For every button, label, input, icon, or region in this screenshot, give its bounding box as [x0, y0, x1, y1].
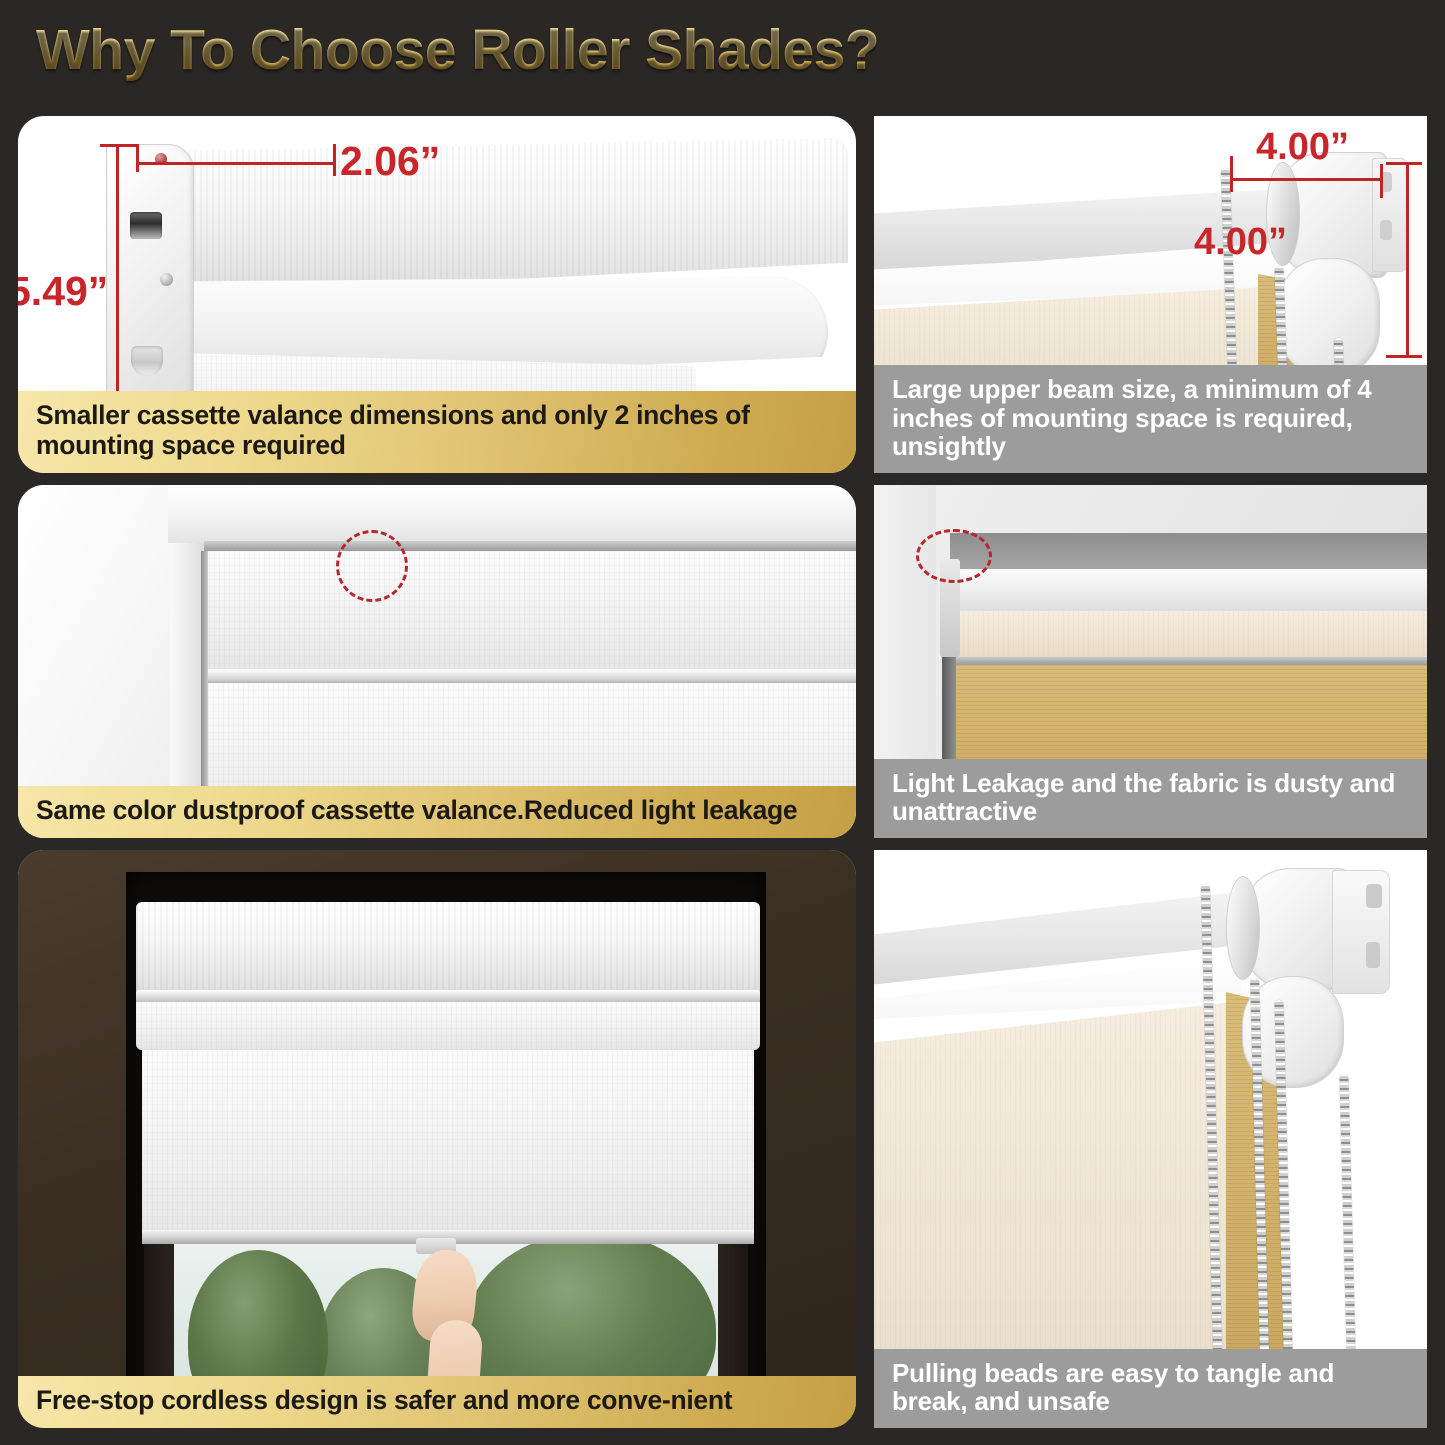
- cassette-skirt: [136, 1002, 760, 1050]
- panel-3-caption: Same color dustproof cassette valance.Re…: [18, 786, 856, 838]
- panel-smaller-cassette[interactable]: 2.06” 5.49” Smaller cassette valance dim…: [18, 116, 856, 473]
- beam-bottom-rail: [948, 657, 1427, 665]
- beam-height-tick-bottom: [1386, 355, 1422, 358]
- mount-plate-slot-a: [1366, 884, 1382, 908]
- panel-6-image: [874, 850, 1427, 1428]
- beam-width-tick-right: [1380, 164, 1383, 198]
- upper-beam-shadow: [950, 533, 1427, 571]
- panel-light-leakage[interactable]: Large gap Light Leakage and the fabric i…: [874, 485, 1427, 838]
- panel-5-caption: Free-stop cordless design is safer and m…: [18, 1376, 856, 1428]
- beam-height-dimension-label: 4.00”: [1194, 221, 1287, 264]
- window-frame-outer: [18, 485, 170, 838]
- beam-width-dimension-line: [1230, 178, 1382, 181]
- mount-plate-slot-b: [1366, 942, 1380, 968]
- beam-height-dimension-line: [1406, 162, 1409, 358]
- panel-cordless-design[interactable]: Free-stop cordless design is safer and m…: [18, 850, 856, 1428]
- beam-width-dimension-label: 4.00”: [1256, 126, 1349, 169]
- cassette-valance: [136, 902, 760, 998]
- comparison-grid: 2.06” 5.49” Smaller cassette valance dim…: [0, 100, 1445, 1445]
- panel-2-caption: Large upper beam size, a minimum of 4 in…: [874, 365, 1427, 473]
- panel-5-image: [18, 850, 856, 1428]
- height-dimension-label: 5.49”: [18, 268, 108, 315]
- panel-dustproof-valance[interactable]: smaller gap Same color dustproof cassett…: [18, 485, 856, 838]
- beam-bracket-lower: [1278, 258, 1380, 376]
- bracket-slot-b: [1380, 220, 1392, 240]
- shade-fabric-upper: [204, 551, 856, 671]
- beam-width-tick-left: [1230, 156, 1233, 192]
- page-title: Why To Choose Roller Shades?: [36, 17, 879, 83]
- panel-pulling-beads[interactable]: Pulling beads are easy to tangle and bre…: [874, 850, 1427, 1428]
- shade-midrail: [204, 669, 856, 683]
- shade-main-fabric: [142, 1050, 754, 1238]
- bracket-screw-middle: [160, 273, 173, 286]
- panel-3-image: smaller gap: [18, 485, 856, 838]
- highlight-circle-icon: [336, 530, 408, 602]
- width-dimension-tick-right: [333, 144, 336, 176]
- beam-height-tick-top: [1386, 162, 1422, 165]
- header-bar: Why To Choose Roller Shades?: [0, 0, 1445, 100]
- width-dimension-tick-left: [136, 144, 139, 172]
- highlight-circle-icon: [916, 529, 992, 583]
- beam-cream-band: [948, 611, 1427, 657]
- valance-headrail: [204, 541, 856, 551]
- upper-beam-face: [944, 569, 1427, 613]
- panel-large-beam[interactable]: 4.00” 4.00” Large upper beam size, a min…: [874, 116, 1427, 473]
- width-dimension-label: 2.06”: [340, 138, 440, 185]
- height-dimension-tick-top: [100, 144, 138, 147]
- width-dimension-line: [136, 162, 336, 165]
- clutch-disc: [1226, 876, 1260, 980]
- bracket-slot-upper: [130, 212, 162, 239]
- panel-4-caption: Light Leakage and the fabric is dusty an…: [874, 759, 1427, 838]
- window-frame-top: [168, 485, 856, 543]
- panel-1-caption: Smaller cassette valance dimensions and …: [18, 391, 856, 473]
- panel-6-caption: Pulling beads are easy to tangle and bre…: [874, 1349, 1427, 1428]
